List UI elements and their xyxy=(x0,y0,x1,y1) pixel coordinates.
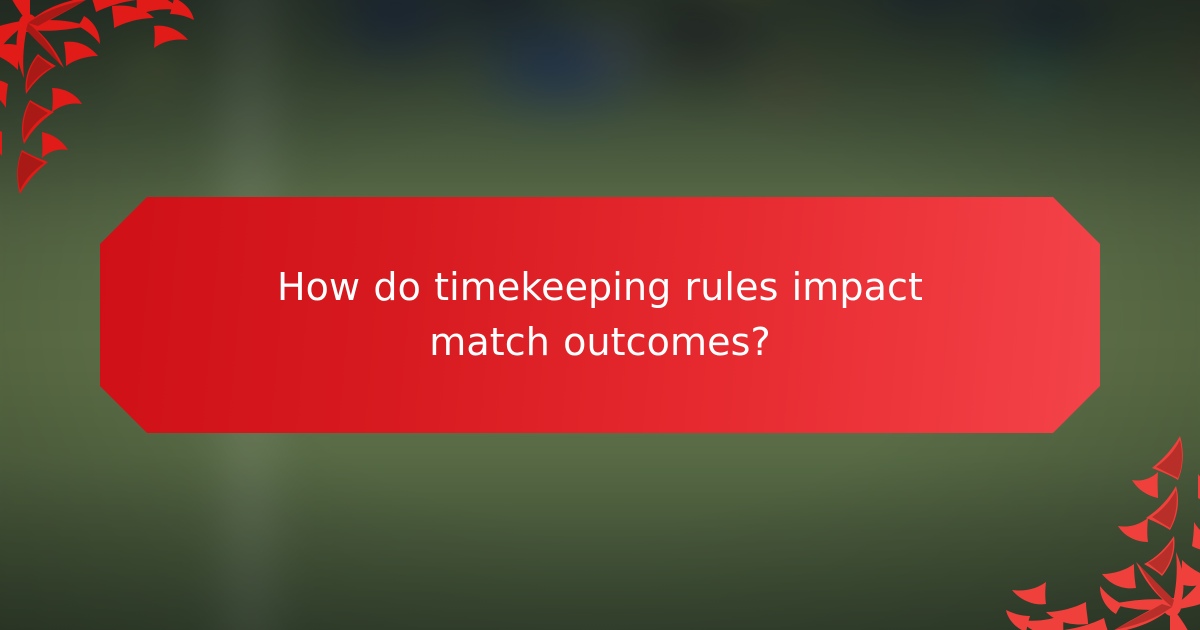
social-card: How do timekeeping rules impact match ou… xyxy=(0,0,1200,630)
page-title: How do timekeeping rules impact match ou… xyxy=(220,260,980,370)
headline-banner: How do timekeeping rules impact match ou… xyxy=(100,197,1100,433)
